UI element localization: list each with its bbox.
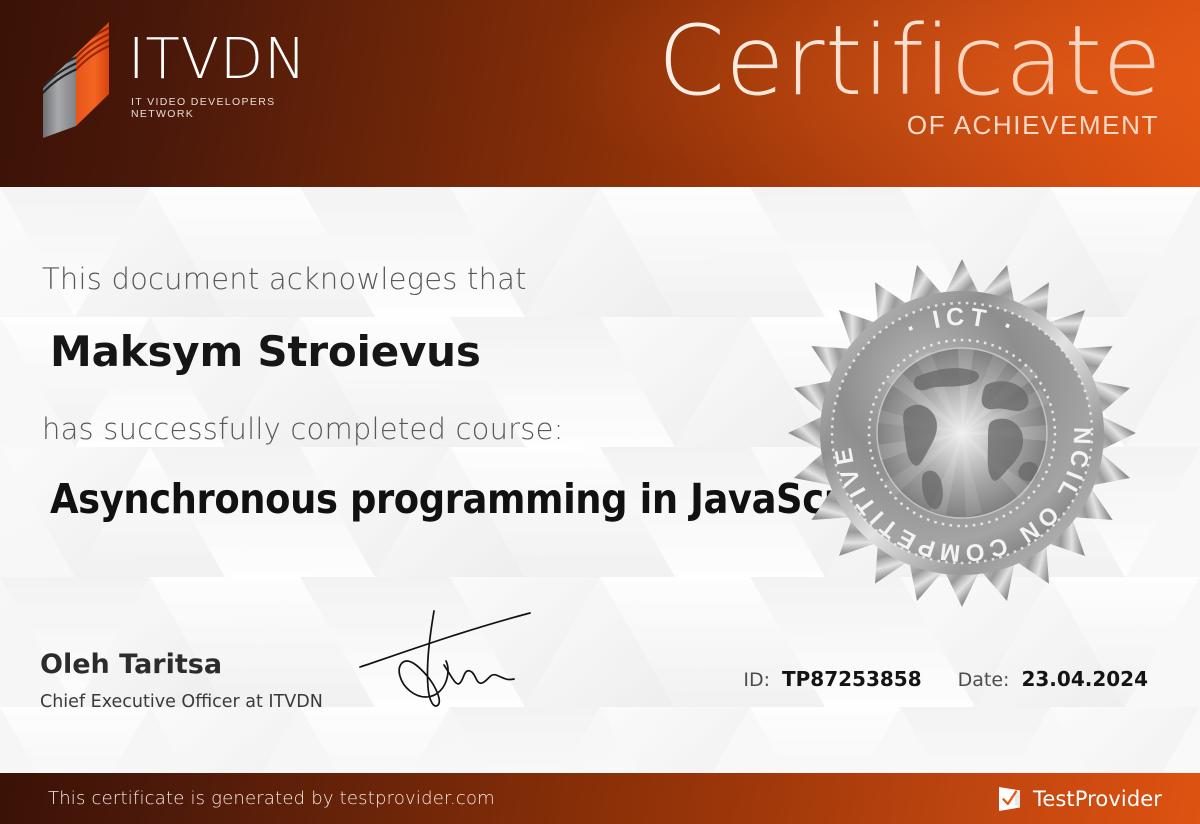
- certificate-title-block: Certificate OF ACHIEVEMENT: [658, 10, 1162, 141]
- certificate-title: Certificate: [658, 10, 1162, 114]
- certificate-header: ITVDN IT VIDEO DEVELOPERS NETWORK Certif…: [0, 0, 1200, 187]
- globe-icon: [877, 348, 1050, 518]
- acknowledge-text: This document acknowleges that: [42, 262, 527, 296]
- testprovider-brand-name: TestProvider: [1033, 787, 1162, 811]
- signature-icon: [352, 605, 552, 715]
- certificate-footer: This certificate is generated by testpro…: [0, 773, 1200, 824]
- council-seal-icon: · ICT · COUNCIL ON COMPETITIVENESS: [788, 259, 1136, 607]
- certificate-id-value: TP87253858: [782, 667, 922, 691]
- itvdn-logo-name: ITVDN: [128, 32, 338, 88]
- itvdn-logo-tagline: IT VIDEO DEVELOPERS NETWORK: [131, 96, 338, 120]
- certificate-meta: ID: TP87253858 Date: 23.04.2024: [743, 667, 1148, 691]
- testprovider-logo[interactable]: TestProvider: [996, 785, 1162, 813]
- certificate-date-value: 23.04.2024: [1021, 667, 1148, 691]
- signer-role: Chief Executive Officer at ITVDN: [40, 692, 323, 712]
- certificate-body: This document acknowleges that Maksym St…: [0, 187, 1200, 773]
- certificate-date-label: Date:: [958, 669, 1010, 691]
- completed-course-text: has successfully completed course:: [42, 412, 564, 446]
- course-name: Asynchronous programming in JavaScript: [50, 475, 897, 523]
- footer-note: This certificate is generated by testpro…: [48, 788, 495, 809]
- checkmark-shield-icon: [996, 785, 1024, 813]
- itvdn-logo-text: ITVDN IT VIDEO DEVELOPERS NETWORK: [128, 18, 338, 120]
- certificate-id-label: ID:: [743, 669, 770, 691]
- itvdn-logo-mark-icon: [38, 20, 114, 142]
- recipient-name: Maksym Stroievus: [50, 327, 481, 376]
- signer-name: Oleh Taritsa: [40, 649, 222, 680]
- itvdn-logo: ITVDN IT VIDEO DEVELOPERS NETWORK: [38, 18, 338, 138]
- certificate-document: ITVDN IT VIDEO DEVELOPERS NETWORK Certif…: [0, 0, 1200, 824]
